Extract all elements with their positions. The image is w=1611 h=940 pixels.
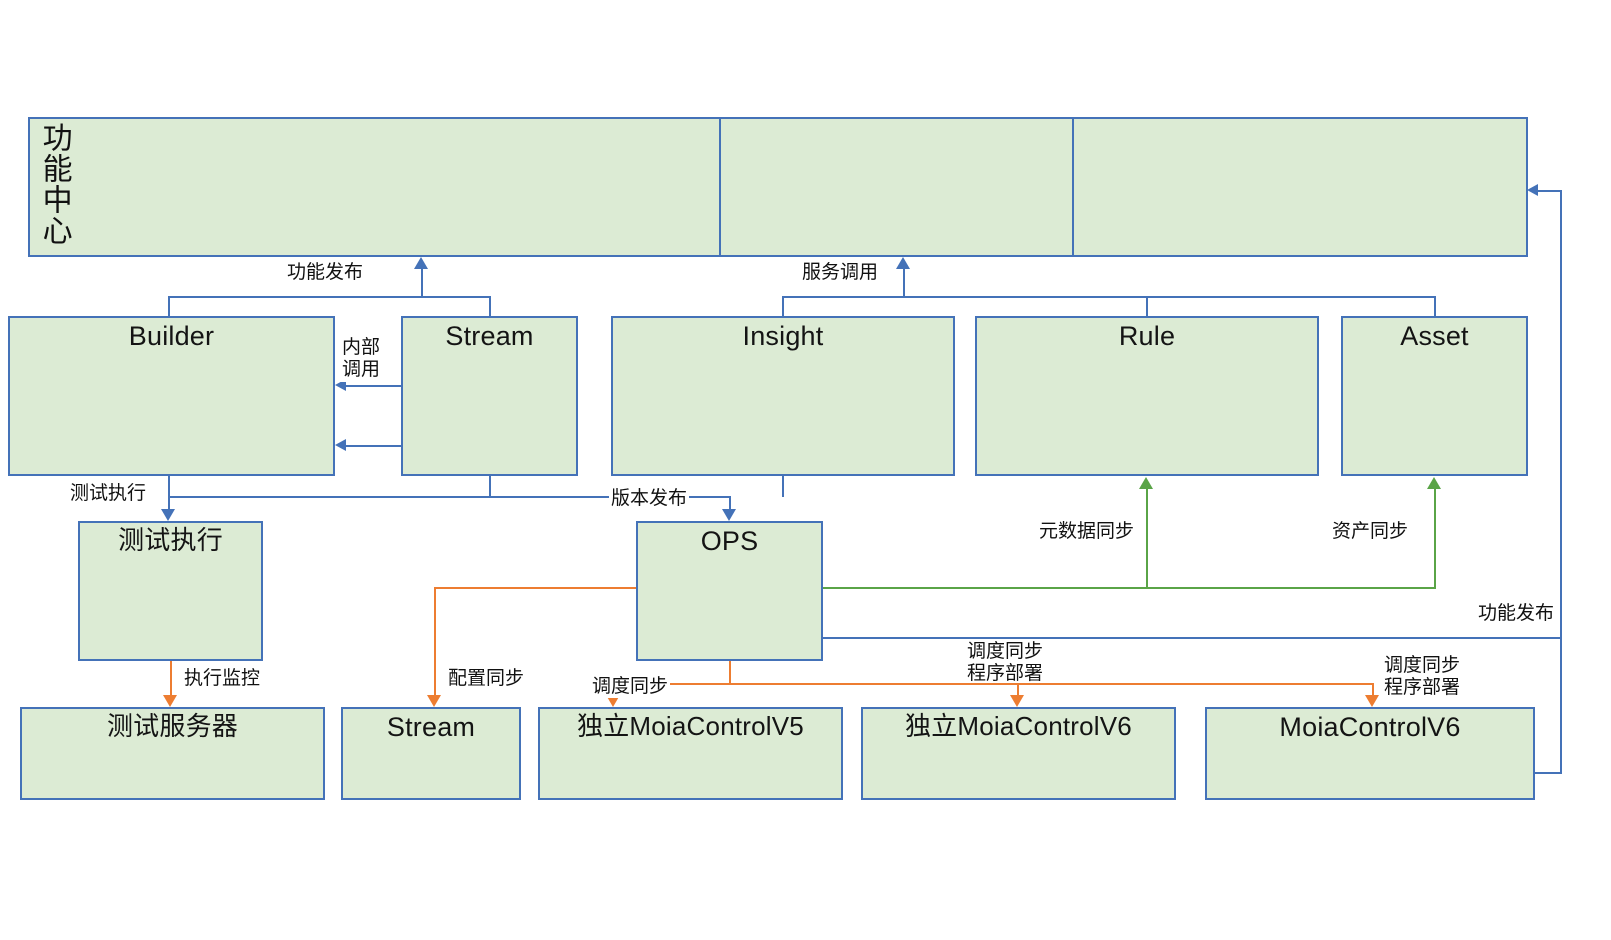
label-service-call: 服务调用 [800,262,880,284]
arrow-exec-monitor-down [163,695,177,707]
module-builder: Builder [8,316,335,476]
module-rule-title: Rule [977,318,1317,350]
label-feature-publish-right: 功能发布 [1476,603,1556,625]
server-standalone-moiacontrolv5-title: 独立MoiaControlV5 [540,709,841,740]
module-stream: Stream [401,316,578,476]
server-standalone-moiacontrolv5: 独立MoiaControlV5 [538,707,843,800]
line-feature-publish-riser [421,269,423,297]
server-standalone-moiacontrolv6: 独立MoiaControlV6 [861,707,1176,800]
server-test-server: 测试服务器 [20,707,325,800]
line-builder-up [168,296,170,316]
module-insight-title: Insight [613,318,953,350]
functional-center-divider-2 [1072,118,1074,256]
line-right-loop-v [1560,190,1562,772]
server-test-server-title: 测试服务器 [22,709,323,740]
module-asset-title: Asset [1343,318,1526,350]
arrow-internal-call-2 [335,439,346,451]
line-green-base [822,587,1436,589]
server-moiacontrolv6-title: MoiaControlV6 [1207,709,1533,741]
module-builder-title: Builder [10,318,333,350]
label-schedule-deploy-mid: 调度同步 程序部署 [965,641,1045,686]
functional-center-side-label: 功能中心 [38,122,69,246]
line-insight-down [782,476,784,497]
line-test-exec-stub [168,476,170,496]
arrow-schedule-deploy-far [1365,695,1379,707]
line-insight-up [782,296,784,316]
architecture-diagram: 功能中心 平台管理 数据研发 数据服务 数据管控 数据资产管理 数据运维 公共服… [0,0,1611,940]
server-moiacontrolv6: MoiaControlV6 [1205,707,1535,800]
line-config-sync-h [434,587,637,589]
line-asset-sync-riser [1434,489,1436,588]
line-stream-up [489,296,491,316]
label-test-execute: 测试执行 [68,483,148,505]
arrow-right-loop-left [1527,184,1538,196]
arrow-asset-sync-up [1427,477,1441,489]
server-stream-title: Stream [343,709,519,741]
label-exec-monitor: 执行监控 [182,668,262,690]
functional-center-bar [28,117,1528,257]
module-ops-title: OPS [638,523,821,555]
module-rule: Rule [975,316,1319,476]
line-schedule-deploy-far [1372,683,1374,695]
line-internal-call-1 [346,385,402,387]
label-config-sync: 配置同步 [446,668,526,690]
arrow-version-publish-down [722,509,736,521]
bus-feature-publish [168,296,489,298]
label-internal-call: 内部 调用 [340,337,382,382]
line-service-call-riser [903,269,905,297]
label-metadata-sync: 元数据同步 [1037,521,1136,543]
module-insight: Insight [611,316,955,476]
module-stream-title: Stream [403,318,576,350]
arrow-metadata-sync-up [1139,477,1153,489]
line-asset-up [1434,296,1436,316]
bus-service-call [782,296,1434,298]
line-ops-bottom-trunk [729,661,731,683]
line-version-publish-drop [729,496,731,509]
line-metadata-sync-riser [1146,489,1148,588]
line-exec-monitor [170,661,172,695]
label-schedule-deploy-far: 调度同步 程序部署 [1382,655,1462,700]
line-config-sync-v [434,587,436,695]
arrow-schedule-deploy-v6 [1010,695,1024,707]
line-internal-call-2 [346,445,402,447]
arrow-feature-publish-up [414,257,428,269]
module-ops: OPS [636,521,823,661]
arrow-test-exec-down [161,509,175,521]
module-asset: Asset [1341,316,1528,476]
line-rule-up [1146,296,1148,316]
module-test-execution-title: 测试执行 [80,523,261,554]
label-feature-publish-top: 功能发布 [285,262,365,284]
module-test-execution: 测试执行 [78,521,263,661]
label-version-publish: 版本发布 [609,488,689,510]
arrow-service-call-up [896,257,910,269]
functional-center-divider-1 [719,118,721,256]
server-standalone-moiacontrolv6-title: 独立MoiaControlV6 [863,709,1174,740]
label-asset-sync: 资产同步 [1330,521,1410,543]
server-stream: Stream [341,707,521,800]
arrow-config-sync-down [427,695,441,707]
line-ops-right-blue [822,637,1560,639]
label-schedule-sync: 调度同步 [590,676,670,698]
line-stream2-down [489,476,491,497]
